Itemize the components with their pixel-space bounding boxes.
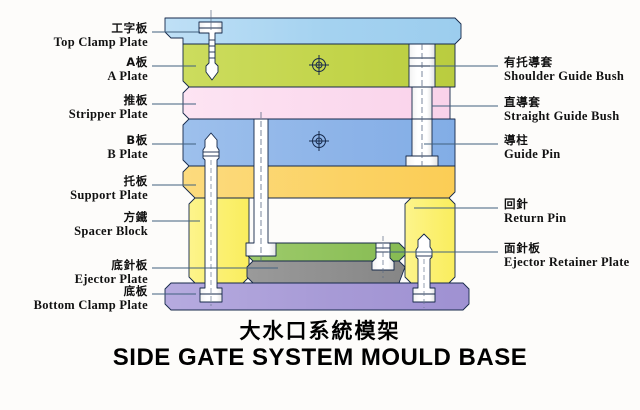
diagram-title: 大水口系統模架 SIDE GATE SYSTEM MOULD BASE xyxy=(0,318,640,372)
plate-stripper-plate xyxy=(183,87,450,119)
label-en: Return Pin xyxy=(504,211,566,225)
label-en: Stripper Plate xyxy=(69,107,148,121)
label-bottom-clamp-plate: 底板 Bottom Clamp Plate xyxy=(34,285,148,312)
label-cn: 推板 xyxy=(69,94,148,107)
label-cn: 有托導套 xyxy=(504,56,624,69)
title-english: SIDE GATE SYSTEM MOULD BASE xyxy=(0,344,640,372)
label-en: A Plate xyxy=(107,69,148,83)
label-straight-guide-bush: 直導套 Straight Guide Bush xyxy=(504,96,619,123)
label-cn: B板 xyxy=(107,134,148,147)
label-en: Support Plate xyxy=(70,188,148,202)
label-b-plate: B板 B Plate xyxy=(107,134,148,161)
title-chinese: 大水口系統模架 xyxy=(0,318,640,344)
label-a-plate: A板 A Plate xyxy=(107,56,148,83)
label-cn: 托板 xyxy=(70,175,148,188)
label-cn: 面針板 xyxy=(504,242,630,255)
diagram-stage: 工字板 Top Clamp Plate A板 A Plate 推板 Stripp… xyxy=(0,0,640,410)
label-ejector-retainer-plate: 面針板 Ejector Retainer Plate xyxy=(504,242,630,269)
label-cn: 底針板 xyxy=(75,259,148,272)
label-en: Guide Pin xyxy=(504,147,561,161)
plate-spacer-block-left xyxy=(189,198,249,283)
label-cn: 導柱 xyxy=(504,134,561,147)
label-en: Straight Guide Bush xyxy=(504,109,619,123)
label-stripper-plate: 推板 Stripper Plate xyxy=(69,94,148,121)
label-en: Shoulder Guide Bush xyxy=(504,69,624,83)
label-en: Bottom Clamp Plate xyxy=(34,298,148,312)
label-en: Ejector Retainer Plate xyxy=(504,255,630,269)
label-ejector-plate: 底針板 Ejector Plate xyxy=(75,259,148,286)
label-cn: 方鐵 xyxy=(74,211,148,224)
label-en: Top Clamp Plate xyxy=(54,35,148,49)
label-cn: 回針 xyxy=(504,198,566,211)
label-en: Spacer Block xyxy=(74,224,148,238)
label-cn: 底板 xyxy=(34,285,148,298)
label-top-clamp-plate: 工字板 Top Clamp Plate xyxy=(54,22,148,49)
label-cn: 工字板 xyxy=(54,22,148,35)
label-spacer-block: 方鐵 Spacer Block xyxy=(74,211,148,238)
plate-support-plate xyxy=(183,166,455,198)
label-cn: 直導套 xyxy=(504,96,619,109)
label-guide-pin: 導柱 Guide Pin xyxy=(504,134,561,161)
label-en: B Plate xyxy=(107,147,148,161)
label-return-pin: 回針 Return Pin xyxy=(504,198,566,225)
label-shoulder-guide-bush: 有托導套 Shoulder Guide Bush xyxy=(504,56,624,83)
label-cn: A板 xyxy=(107,56,148,69)
label-support-plate: 托板 Support Plate xyxy=(70,175,148,202)
